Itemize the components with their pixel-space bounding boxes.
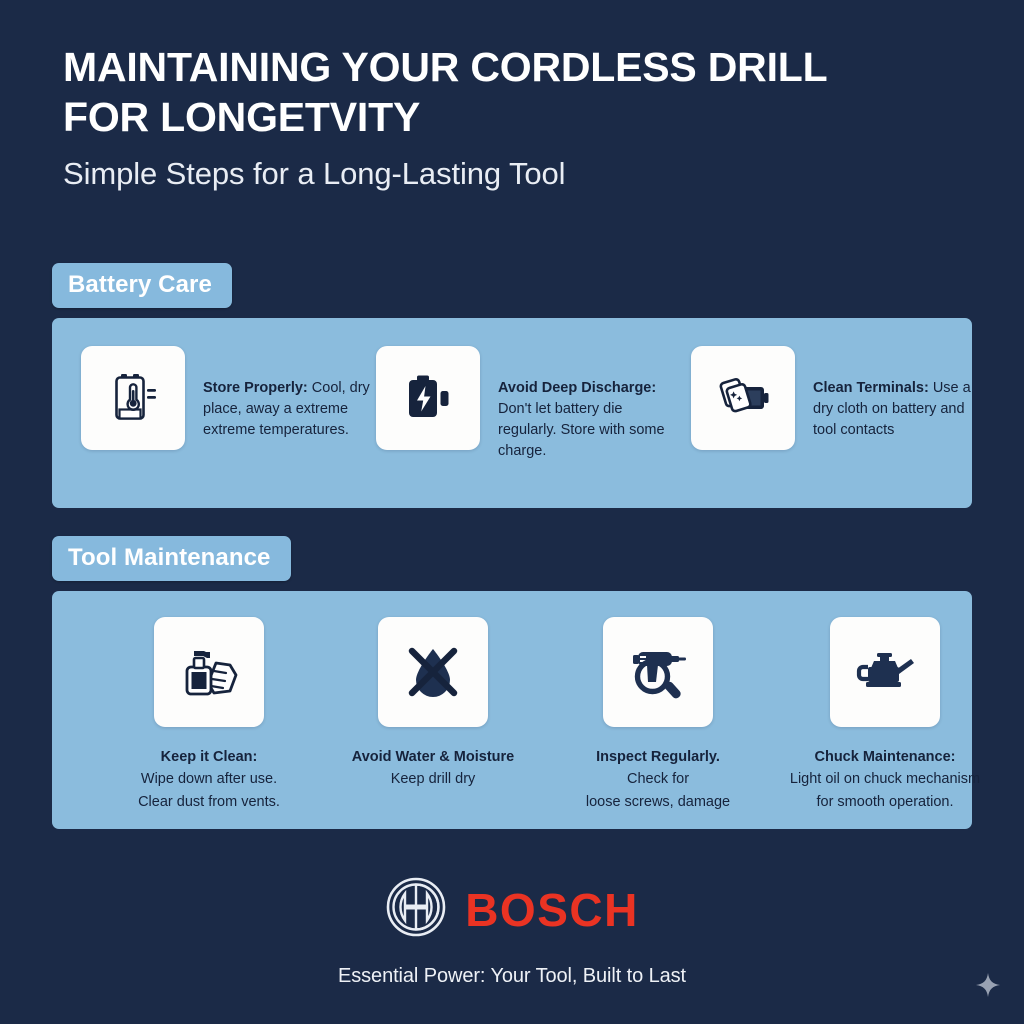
card-text-avoid-deep-discharge: Avoid Deep Discharge: Don't let battery … <box>498 346 674 462</box>
drill-magnifier-icon <box>603 617 713 727</box>
section-tab-tool-maintenance: Tool Maintenance <box>52 536 291 581</box>
card-line-1: Keep drill dry <box>320 768 546 790</box>
card-row-tool: Keep it Clean: Wipe down after use. Clea… <box>52 617 972 813</box>
section-panel-tool-maintenance: Keep it Clean: Wipe down after use. Clea… <box>52 591 972 829</box>
card-row-battery: Store Properly: Cool, dry place, away a … <box>52 346 972 462</box>
card-text-store-properly: Store Properly: Cool, dry place, away a … <box>203 346 376 441</box>
section-battery-care: Battery Care <box>52 263 972 508</box>
card-lead: Chuck Maintenance: <box>770 746 1000 768</box>
no-water-droplet-icon <box>378 617 488 727</box>
footer: BOSCH Essential Power: Your Tool, Built … <box>0 876 1024 988</box>
card-chuck-maintenance: Chuck Maintenance: Light oil on chuck me… <box>770 617 1000 813</box>
footer-tagline: Essential Power: Your Tool, Built to Las… <box>0 965 1024 988</box>
card-line-2: Clear dust from vents. <box>98 791 320 813</box>
brand-name: BOSCH <box>465 887 639 933</box>
card-avoid-deep-discharge: Avoid Deep Discharge: Don't let battery … <box>376 346 691 462</box>
bosch-armature-logo-icon <box>385 876 447 943</box>
infographic-canvas: MAINTAINING YOUR CORDLESS DRILL FOR LONG… <box>0 0 1024 1024</box>
sparkle-icon <box>974 971 1002 1004</box>
card-body: Don't let battery die regularly. Store w… <box>498 401 665 459</box>
card-lead: Keep it Clean: <box>98 746 320 768</box>
battery-thermometer-icon <box>81 346 185 450</box>
card-lead: Clean Terminals: <box>813 380 929 396</box>
battery-bolt-icon <box>376 346 480 450</box>
section-panel-battery-care: Store Properly: Cool, dry place, away a … <box>52 318 972 508</box>
card-keep-it-clean: Keep it Clean: Wipe down after use. Clea… <box>98 617 320 813</box>
card-line-1: Light oil on chuck mechanism <box>770 768 1000 790</box>
card-clean-terminals: Clean Terminals: Use a dry cloth on batt… <box>691 346 1001 450</box>
card-text-keep-it-clean: Keep it Clean: Wipe down after use. Clea… <box>98 746 320 813</box>
cloth-battery-icon <box>691 346 795 450</box>
card-line-1: Check for <box>546 768 770 790</box>
brand-lockup: BOSCH <box>0 876 1024 943</box>
card-line-2: loose screws, damage <box>546 791 770 813</box>
card-text-avoid-water-moisture: Avoid Water & Moisture Keep drill dry <box>320 746 546 791</box>
card-lead: Avoid Deep Discharge: <box>498 380 656 396</box>
oil-can-icon <box>830 617 940 727</box>
card-line-2: for smooth operation. <box>770 791 1000 813</box>
section-tab-battery-care: Battery Care <box>52 263 232 308</box>
spray-bottle-cloth-icon <box>154 617 264 727</box>
header: MAINTAINING YOUR CORDLESS DRILL FOR LONG… <box>63 42 963 192</box>
card-text-chuck-maintenance: Chuck Maintenance: Light oil on chuck me… <box>770 746 1000 813</box>
card-text-clean-terminals: Clean Terminals: Use a dry cloth on batt… <box>813 346 989 441</box>
card-line-1: Wipe down after use. <box>98 768 320 790</box>
card-store-properly: Store Properly: Cool, dry place, away a … <box>81 346 376 450</box>
card-lead: Store Properly: <box>203 380 308 396</box>
card-lead: Inspect Regularly. <box>546 746 770 768</box>
page-subtitle: Simple Steps for a Long-Lasting Tool <box>63 156 963 192</box>
card-inspect-regularly: Inspect Regularly. Check for loose screw… <box>546 617 770 813</box>
page-title: MAINTAINING YOUR CORDLESS DRILL FOR LONG… <box>63 42 893 142</box>
card-avoid-water-moisture: Avoid Water & Moisture Keep drill dry <box>320 617 546 791</box>
card-text-inspect-regularly: Inspect Regularly. Check for loose screw… <box>546 746 770 813</box>
card-lead: Avoid Water & Moisture <box>320 746 546 768</box>
section-tool-maintenance: Tool Maintenance <box>52 536 972 829</box>
